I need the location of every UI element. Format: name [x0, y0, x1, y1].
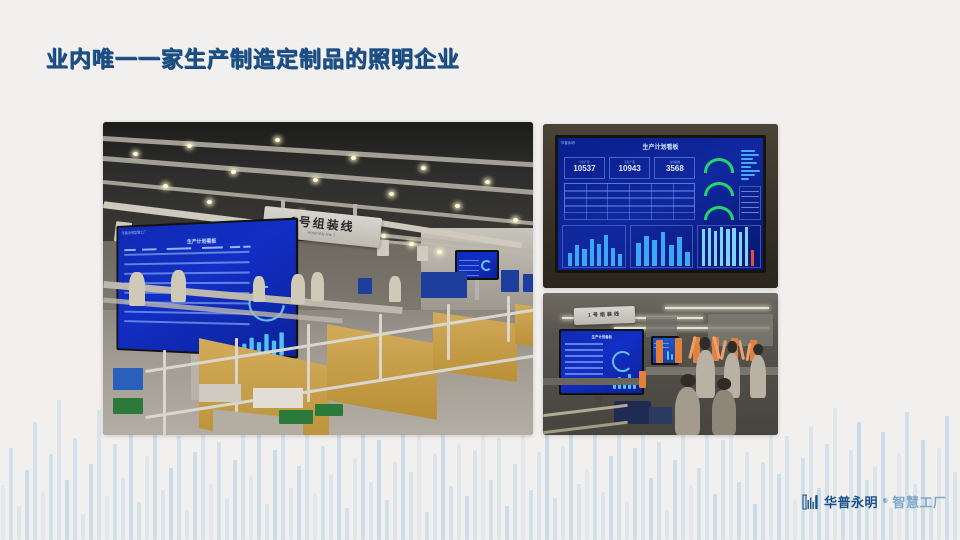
decorative-bar — [369, 482, 373, 540]
decorative-bar — [945, 416, 949, 540]
kpi-wip-count: 在制品数 3568 — [654, 157, 695, 179]
decorative-bar — [169, 468, 173, 540]
decorative-bar — [457, 444, 461, 540]
decorative-bar — [649, 478, 653, 540]
decorative-bar — [777, 474, 781, 540]
decorative-bar — [641, 420, 645, 540]
decorative-bar — [785, 436, 789, 540]
decorative-bar — [529, 490, 533, 540]
decorative-bar — [561, 446, 565, 540]
worker-figure — [291, 274, 305, 304]
decorative-bar — [297, 466, 301, 540]
decorative-bar — [289, 488, 293, 540]
line-sign: 1号组装线 — [573, 306, 635, 325]
decorative-bar — [673, 460, 677, 540]
decorative-bar — [761, 462, 765, 540]
decorative-bar — [465, 496, 469, 540]
photo-production-dashboard-screen: 华普永明 生产计划看板 计划产量 10537 实际产量 10943 在制品数 3… — [543, 124, 778, 288]
dashboard-screen: 华普永明 生产计划看板 计划产量 10537 实际产量 10943 在制品数 3… — [555, 135, 767, 273]
decorative-bar — [657, 442, 661, 540]
decorative-bar — [473, 450, 477, 540]
decorative-bar — [433, 454, 437, 540]
decorative-bar — [425, 512, 429, 540]
decorative-bar — [809, 426, 813, 540]
decorative-bar — [921, 440, 925, 540]
line-sign-label: 1号组装线 — [588, 313, 621, 319]
decorative-bar — [737, 482, 741, 540]
decorative-bar — [217, 442, 221, 540]
decorative-bar — [905, 412, 909, 540]
decorative-bar — [401, 424, 405, 540]
decorative-bar — [377, 440, 381, 540]
kpi-value: 3568 — [666, 165, 684, 174]
decorative-bar — [577, 484, 581, 540]
decorative-bar — [689, 486, 693, 540]
sign-label-en: Assembly line 1 — [307, 231, 335, 238]
decorative-bar — [497, 438, 501, 540]
logo-sub-cn: 智慧工厂 — [892, 492, 946, 511]
decorative-bar — [249, 476, 253, 540]
monitor-title: 生产计划看板 — [187, 237, 216, 245]
decorative-bar — [569, 428, 573, 540]
kpi-actual-output: 实际产量 10943 — [609, 157, 650, 179]
decorative-bar — [177, 436, 181, 540]
decorative-bar — [745, 452, 749, 540]
decorative-bar — [721, 440, 725, 540]
decorative-bar — [145, 456, 149, 540]
kpi-value: 10537 — [573, 165, 595, 174]
decorative-bar — [857, 422, 861, 540]
decorative-bar — [513, 464, 517, 540]
kpi-planned-output: 计划产量 10537 — [564, 157, 605, 179]
decorative-bar — [329, 474, 333, 540]
decorative-bar — [81, 514, 85, 540]
decorative-bar — [9, 448, 13, 540]
decorative-bar — [521, 422, 525, 540]
worker-figure — [675, 387, 701, 435]
decorative-bar — [265, 504, 269, 540]
decorative-bar — [385, 500, 389, 540]
decorative-bar — [489, 480, 493, 540]
decorative-bar — [185, 510, 189, 540]
decorative-bar — [73, 438, 77, 540]
photo-factory-assembly-line-wide: 1号组装线 Assembly line 1 华普永明智慧工厂 生产计划看板 — [103, 122, 533, 435]
decorative-bar — [713, 494, 717, 540]
decorative-bar — [273, 450, 277, 540]
decorative-bar — [193, 452, 197, 540]
page-title: 业内唯一一家生产制造定制品的照明企业 — [46, 42, 460, 74]
decorative-bar — [625, 502, 629, 540]
decorative-bar — [113, 444, 117, 540]
line2-achievement-gauge — [704, 182, 735, 196]
decorative-bar — [553, 498, 557, 540]
line1-achievement-gauge — [704, 158, 735, 172]
decorative-bar — [313, 494, 317, 540]
decorative-bar — [753, 504, 757, 540]
worker-figure — [311, 272, 324, 301]
decorative-bar — [65, 480, 69, 540]
decorative-bar — [609, 456, 613, 540]
decorative-bar — [953, 472, 957, 540]
decorative-bar — [585, 470, 589, 540]
decorative-bar — [321, 446, 325, 540]
decorative-bar — [833, 408, 837, 540]
dashboard-brand: 华普永明 — [561, 141, 575, 146]
decorative-bar — [241, 418, 245, 540]
decorative-bar — [209, 484, 213, 540]
decorative-bar — [353, 458, 357, 540]
decorative-bar — [793, 500, 797, 540]
line-monitor-title: 生产计划看板 — [592, 334, 612, 339]
decorative-bar — [705, 430, 709, 540]
decorative-bar — [225, 498, 229, 540]
dashboard-title: 生产计划看板 — [642, 142, 678, 151]
decorative-bar — [601, 492, 605, 540]
decorative-bar — [33, 422, 37, 540]
decorative-bar — [17, 506, 21, 540]
worker-figure — [171, 270, 186, 302]
decorative-bar — [769, 418, 773, 540]
decorative-bar — [345, 508, 349, 540]
decorative-bar — [89, 464, 93, 540]
worker-figure — [750, 355, 766, 398]
decorative-bar — [305, 426, 309, 540]
decorative-bar — [417, 432, 421, 540]
photo-workers-assembly-line-closeup: 1号组装线 生产计划看板 — [543, 293, 778, 435]
decorative-bar — [105, 496, 109, 540]
decorative-bar — [41, 492, 45, 540]
decorative-bar — [1, 485, 5, 540]
line3-achievement-gauge — [704, 206, 735, 220]
monitor-brand: 华普永明智慧工厂 — [122, 230, 147, 236]
logo-brand-cn: 华普永明 — [824, 492, 878, 511]
worker-figure — [696, 350, 715, 398]
kpi-value: 10943 — [619, 165, 641, 174]
worker-figure — [129, 272, 145, 306]
logo-registered-mark: ® — [883, 499, 887, 505]
decorative-bar — [25, 470, 29, 540]
decorative-bar — [57, 400, 61, 540]
decorative-bar — [617, 434, 621, 540]
decorative-bar — [633, 448, 637, 540]
decorative-bar — [233, 460, 237, 540]
worker-figure — [389, 276, 401, 302]
decorative-bar — [881, 432, 885, 540]
hpwinner-logo-icon — [802, 494, 819, 510]
worker-figure — [712, 390, 736, 435]
decorative-bar — [97, 410, 101, 540]
decorative-bar — [537, 452, 541, 540]
decorative-bar — [665, 510, 669, 540]
decorative-bar — [137, 502, 141, 540]
worker-figure — [253, 276, 265, 302]
decorative-bar — [505, 506, 509, 540]
decorative-bar — [337, 420, 341, 540]
decorative-bar — [129, 430, 133, 540]
decorative-bar — [257, 434, 261, 540]
decorative-bar — [697, 468, 701, 540]
decorative-bar — [409, 472, 413, 540]
decorative-bar — [161, 490, 165, 540]
decorative-bar — [393, 462, 397, 540]
decorative-bar — [121, 478, 125, 540]
company-logo: 华普永明 ® 智慧工厂 — [802, 492, 946, 511]
decorative-bar — [49, 454, 53, 540]
decorative-bar — [449, 486, 453, 540]
decorative-bar — [889, 508, 893, 540]
